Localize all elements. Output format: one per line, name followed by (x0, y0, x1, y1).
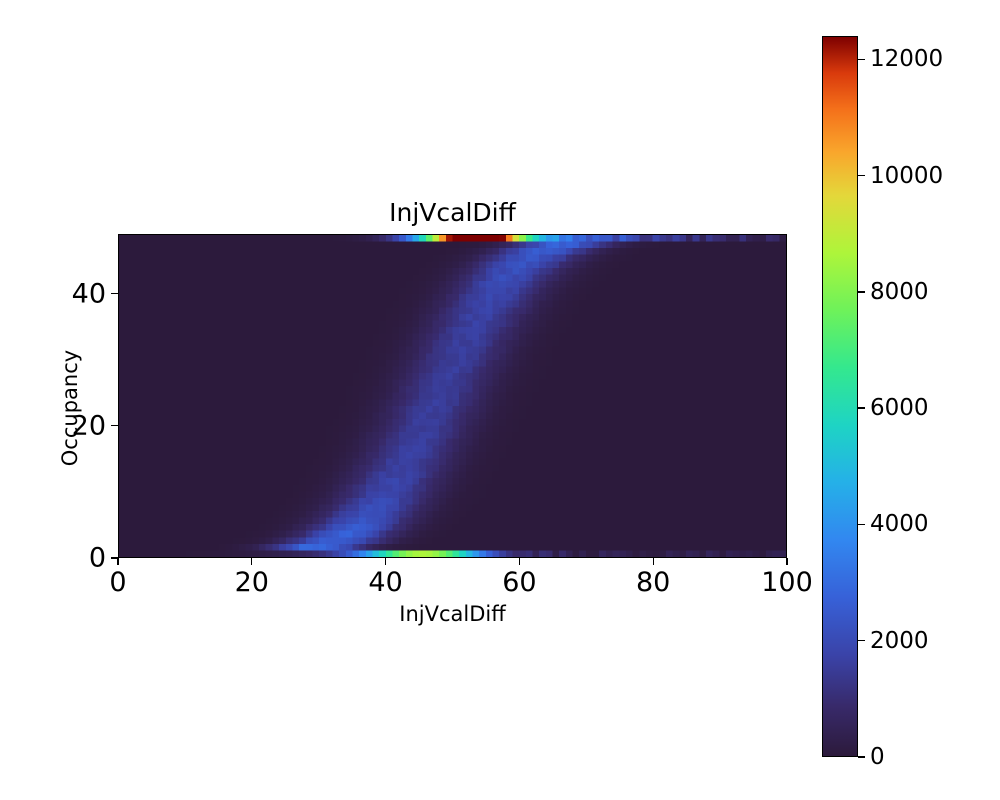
x-tick-label-1: 20 (235, 567, 269, 598)
x-axis-label: InjVcalDiff (118, 602, 787, 626)
x-tick-mark-1 (251, 558, 252, 565)
colorbar-gradient (823, 37, 857, 756)
colorbar-tick-label-5: 10000 (870, 163, 943, 189)
y-tick-label-0: 0 (89, 543, 106, 574)
colorbar[interactable] (822, 36, 858, 757)
x-tick-mark-5 (786, 558, 787, 565)
colorbar-tick-mark-1 (858, 640, 865, 641)
colorbar-tick-label-2: 4000 (870, 511, 929, 537)
y-tick-mark-0 (111, 557, 118, 558)
x-tick-mark-2 (385, 558, 386, 565)
colorbar-tick-label-6: 12000 (870, 46, 943, 72)
x-tick-mark-4 (653, 558, 654, 565)
x-tick-label-0: 0 (109, 567, 126, 598)
colorbar-tick-label-4: 8000 (870, 279, 929, 305)
colorbar-tick-label-1: 2000 (870, 628, 929, 654)
colorbar-tick-label-0: 0 (870, 744, 885, 770)
colorbar-tick-mark-2 (858, 524, 865, 525)
x-tick-label-5: 100 (761, 567, 813, 598)
heatmap-image (119, 235, 786, 557)
colorbar-tick-mark-0 (858, 756, 865, 757)
y-tick-mark-1 (111, 425, 118, 426)
matplotlib-figure: InjVcalDiff 020406080100 02040 InjVcalDi… (0, 0, 1000, 800)
x-tick-label-3: 60 (502, 567, 536, 598)
colorbar-tick-mark-5 (858, 175, 865, 176)
x-tick-mark-3 (519, 558, 520, 565)
x-tick-mark-0 (117, 558, 118, 565)
colorbar-tick-label-3: 6000 (870, 395, 929, 421)
plot-title: InjVcalDiff (118, 198, 787, 228)
y-axis-label: Occupancy (58, 278, 82, 538)
y-tick-mark-2 (111, 293, 118, 294)
x-tick-label-2: 40 (368, 567, 402, 598)
x-tick-label-4: 80 (636, 567, 670, 598)
colorbar-tick-mark-4 (858, 291, 865, 292)
colorbar-tick-mark-3 (858, 407, 865, 408)
colorbar-tick-mark-6 (858, 59, 865, 60)
heatmap-axes[interactable] (118, 234, 787, 558)
